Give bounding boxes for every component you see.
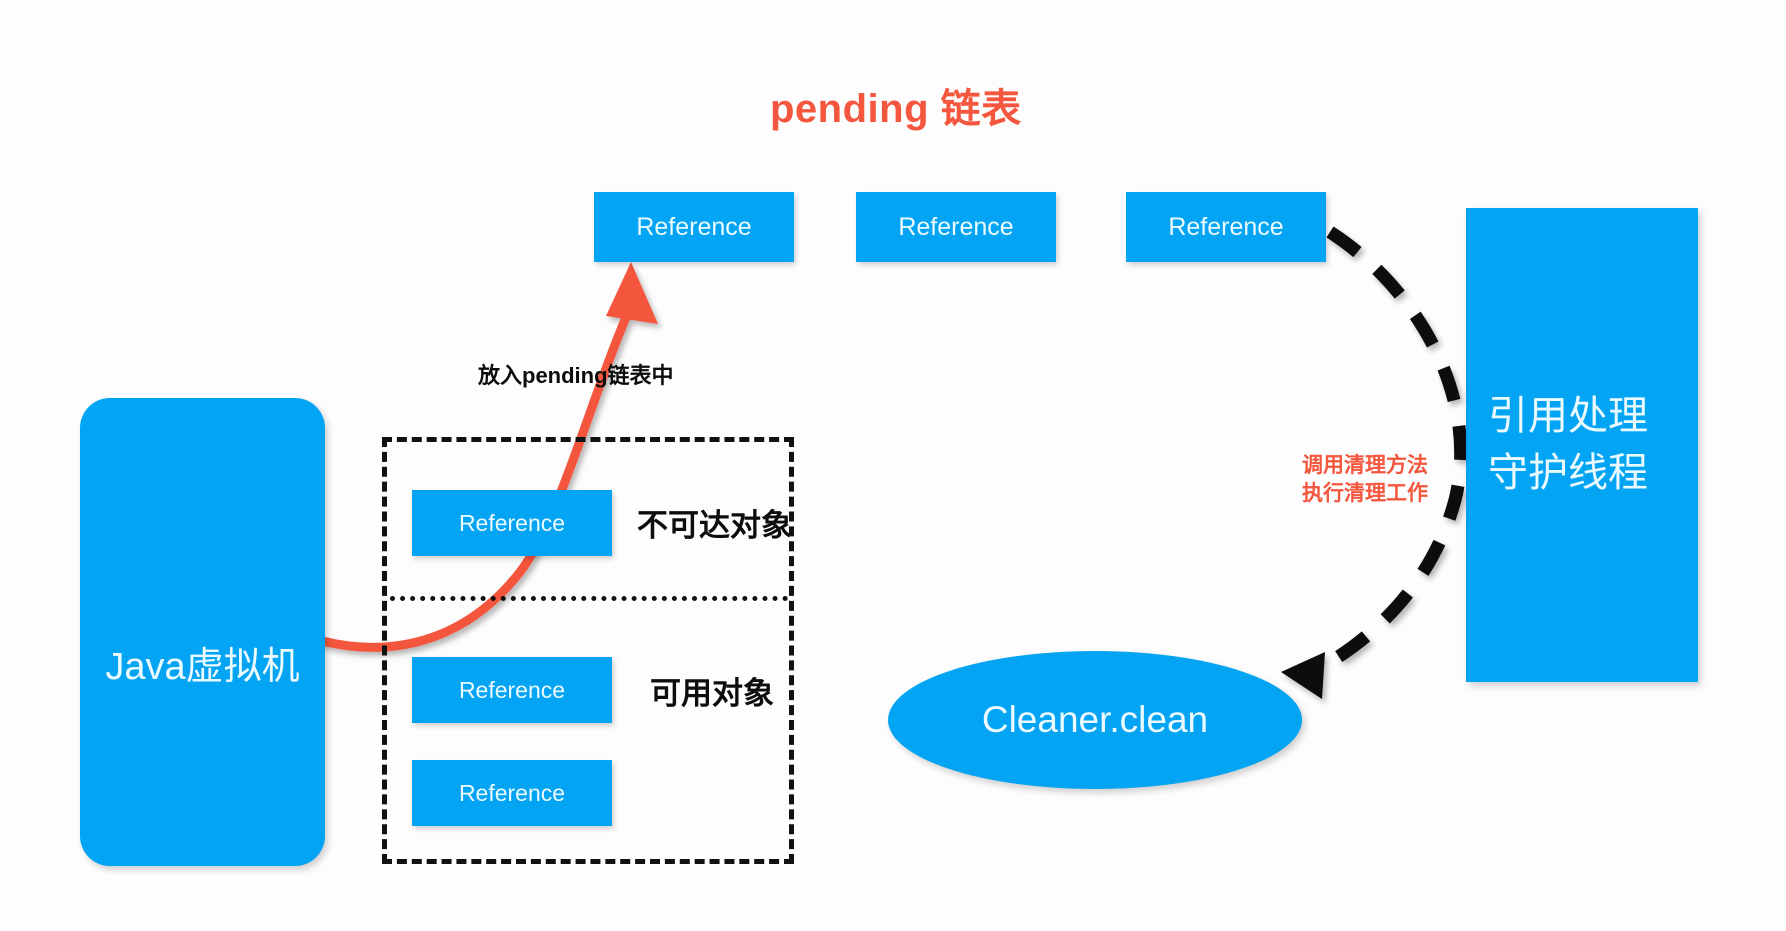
available-reference-node[interactable]: Reference [412, 760, 612, 826]
pending-reference-node[interactable]: Reference [1126, 192, 1326, 262]
diagram-title: pending 链表 [770, 76, 1330, 134]
jvm-label: Java虚拟机 [105, 635, 299, 690]
available-objects-label: 可用对象 [650, 668, 774, 713]
daemon-label-line2: 守护线程 [1488, 445, 1648, 502]
diagram-canvas: pending 链表 Reference Refer [0, 0, 1786, 931]
invoke-clean-label-line1: 调用清理方法 [1302, 452, 1428, 480]
pending-reference-node[interactable]: Reference [856, 192, 1056, 262]
invoke-clean-label: 调用清理方法 执行清理工作 [1302, 452, 1428, 509]
pending-reference-node[interactable]: Reference [594, 192, 794, 262]
unreachable-objects-label: 不可达对象 [637, 500, 792, 545]
jvm-box[interactable]: Java虚拟机 [80, 398, 325, 866]
reference-handler-daemon-box[interactable]: 引用处理 守护线程 [1466, 208, 1698, 682]
put-into-pending-label: 放入pending链表中 [478, 358, 674, 390]
object-region-divider [390, 596, 788, 601]
daemon-label-line1: 引用处理 [1488, 388, 1648, 445]
cleaner-clean-node[interactable]: Cleaner.clean [888, 651, 1302, 789]
invoke-clean-label-line2: 执行清理工作 [1302, 480, 1428, 508]
available-reference-node[interactable]: Reference [412, 657, 612, 723]
unreachable-reference-node[interactable]: Reference [412, 490, 612, 556]
cleaner-clean-label: Cleaner.clean [982, 699, 1208, 741]
